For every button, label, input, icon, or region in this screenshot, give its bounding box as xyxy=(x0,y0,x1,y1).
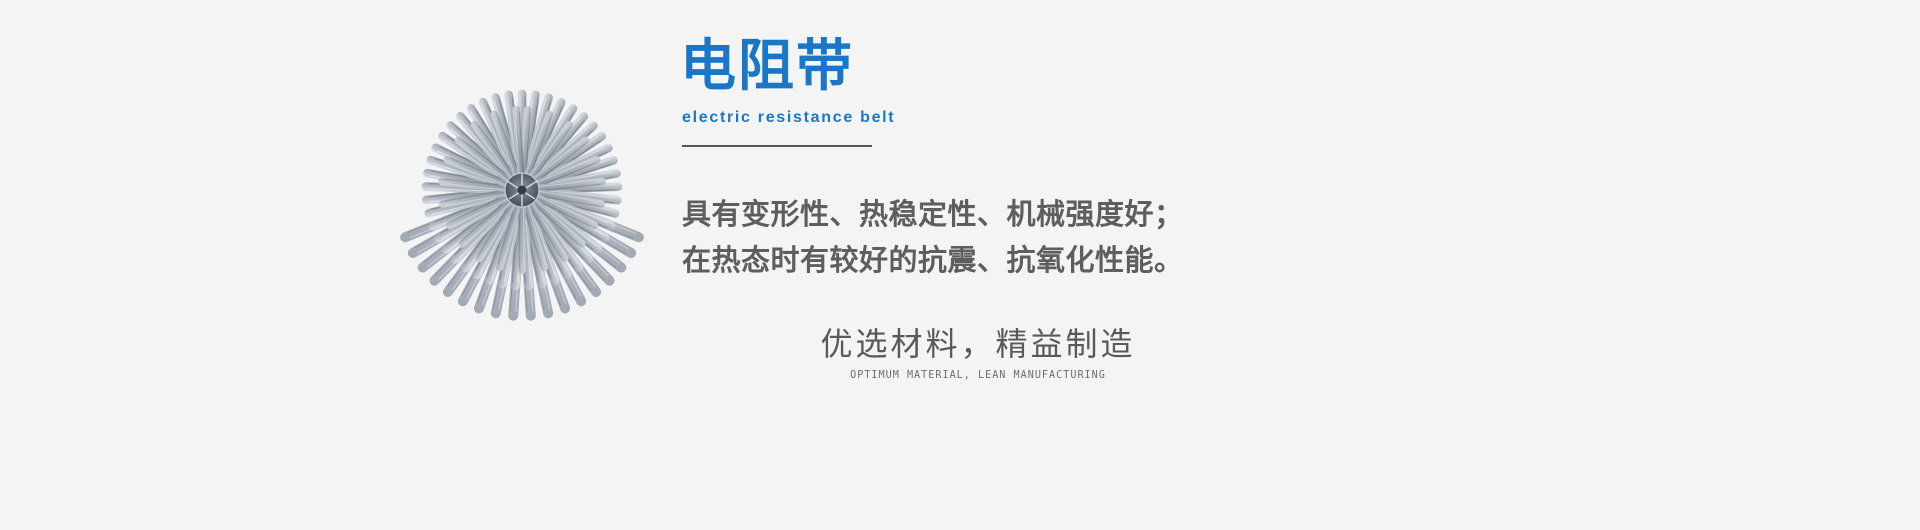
copy-column: 电阻带 electric resistance belt 具有变形性、热稳定性、… xyxy=(680,36,1580,506)
feature-line-1: 具有变形性、热稳定性、机械强度好； xyxy=(682,191,1382,237)
title-divider xyxy=(682,145,872,147)
feature-description: 具有变形性、热稳定性、机械强度好； 在热态时有较好的抗震、抗氧化性能。 xyxy=(682,191,1382,283)
tagline-block: 优选材料，精益制造 OPTIMUM MATERIAL, LEAN MANUFAC… xyxy=(778,324,1178,382)
product-banner: 电阻带 electric resistance belt 具有变形性、热稳定性、… xyxy=(0,0,1920,530)
product-image xyxy=(328,54,708,384)
page-subtitle-en: electric resistance belt xyxy=(682,108,1100,128)
tagline-cn: 优选材料，精益制造 xyxy=(778,324,1178,364)
resistance-belt-illustration xyxy=(328,54,708,384)
tagline-en: OPTIMUM MATERIAL, LEAN MANUFACTURING xyxy=(794,367,1162,382)
title-block: 电阻带 electric resistance belt xyxy=(680,36,1100,147)
page-title: 电阻带 xyxy=(680,36,1100,98)
feature-line-2: 在热态时有较好的抗震、抗氧化性能。 xyxy=(682,237,1382,283)
